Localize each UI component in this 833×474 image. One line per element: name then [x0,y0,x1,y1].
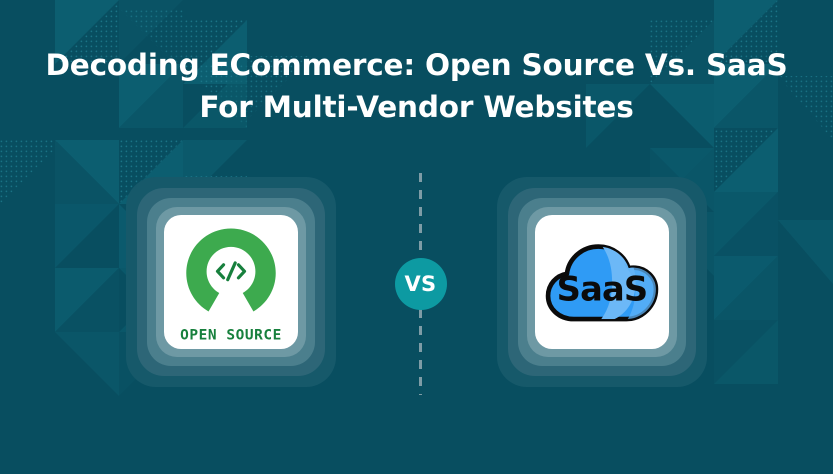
comparison-banner: Decoding ECommerce: Open Source Vs. SaaS… [0,0,833,474]
divider-line-bottom [419,309,422,395]
comparison-stage: OPEN SOURCE VS [0,177,833,387]
vs-badge: VS [395,258,447,310]
open-source-caption: OPEN SOURCE [180,327,282,343]
divider-line-top [419,173,422,255]
card-ring-inner: OPEN SOURCE [156,207,306,357]
open-source-logo: OPEN SOURCE [175,221,287,344]
title-line-1: Decoding ECommerce: Open Source Vs. SaaS [45,48,787,82]
card-ring-inner: SaaS [527,207,677,357]
card-face: SaaS [535,215,669,349]
saas-cloud-logo: SaaS [543,238,661,326]
card-ring-mid: SaaS [518,198,686,366]
open-source-logo-slot: OPEN SOURCE [171,222,291,342]
saas-card[interactable]: SaaS [497,177,707,387]
card-ring-mid: OPEN SOURCE [147,198,315,366]
card-ring-outer: OPEN SOURCE [137,188,325,376]
open-source-card[interactable]: OPEN SOURCE [126,177,336,387]
vs-label: VS [405,274,437,295]
page-title: Decoding ECommerce: Open Source Vs. SaaS… [0,44,833,128]
card-face: OPEN SOURCE [164,215,298,349]
card-ring-outer: SaaS [508,188,696,376]
saas-caption: SaaS [557,270,648,309]
title-block: Decoding ECommerce: Open Source Vs. SaaS… [0,44,833,128]
saas-logo-slot: SaaS [542,222,662,342]
vs-divider: VS [419,177,422,387]
title-line-2: For Multi-Vendor Websites [199,90,633,124]
